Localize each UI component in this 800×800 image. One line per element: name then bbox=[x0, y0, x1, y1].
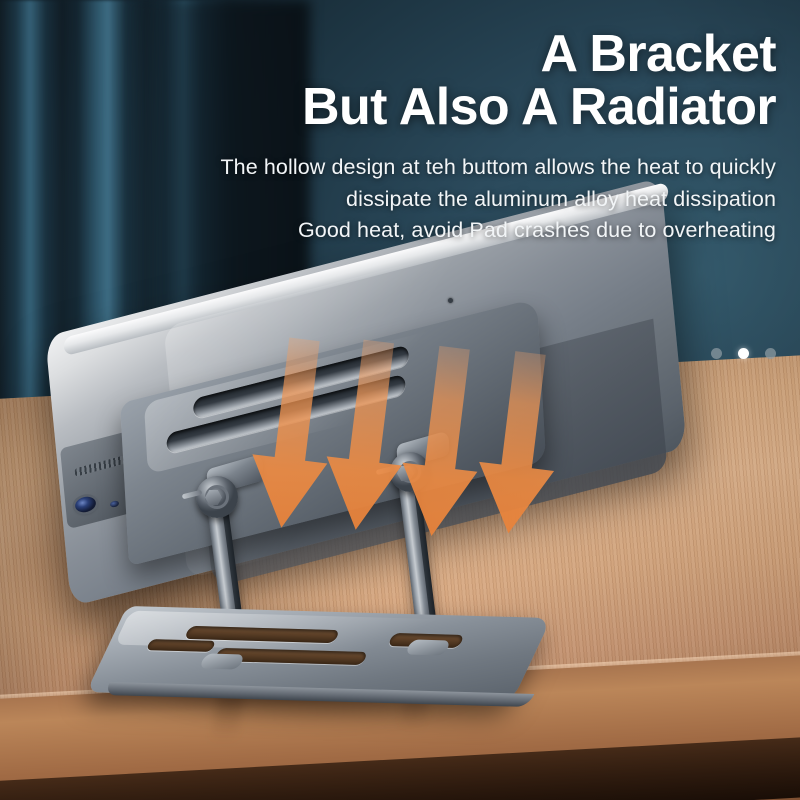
carousel-dot-3[interactable] bbox=[765, 348, 776, 359]
carousel-dot-1[interactable] bbox=[711, 348, 722, 359]
page-title: A Bracket But Also A Radiator bbox=[16, 28, 776, 134]
carousel-dot-2[interactable] bbox=[738, 348, 749, 359]
description-line-3: Good heat, avoid Pad crashes due to over… bbox=[16, 215, 776, 247]
promo-banner: A Bracket But Also A Radiator The hollow… bbox=[0, 0, 800, 800]
carousel-dots[interactable] bbox=[711, 348, 776, 359]
headline-line-1: A Bracket bbox=[541, 25, 776, 83]
base-vent-slot-3 bbox=[146, 639, 216, 652]
description-text: The hollow design at teh buttom allows t… bbox=[16, 152, 776, 247]
headline-line-2: But Also A Radiator bbox=[16, 81, 776, 134]
description-line-2: dissipate the aluminum alloy heat dissip… bbox=[16, 184, 776, 216]
description-line-1: The hollow design at teh buttom allows t… bbox=[16, 152, 776, 184]
